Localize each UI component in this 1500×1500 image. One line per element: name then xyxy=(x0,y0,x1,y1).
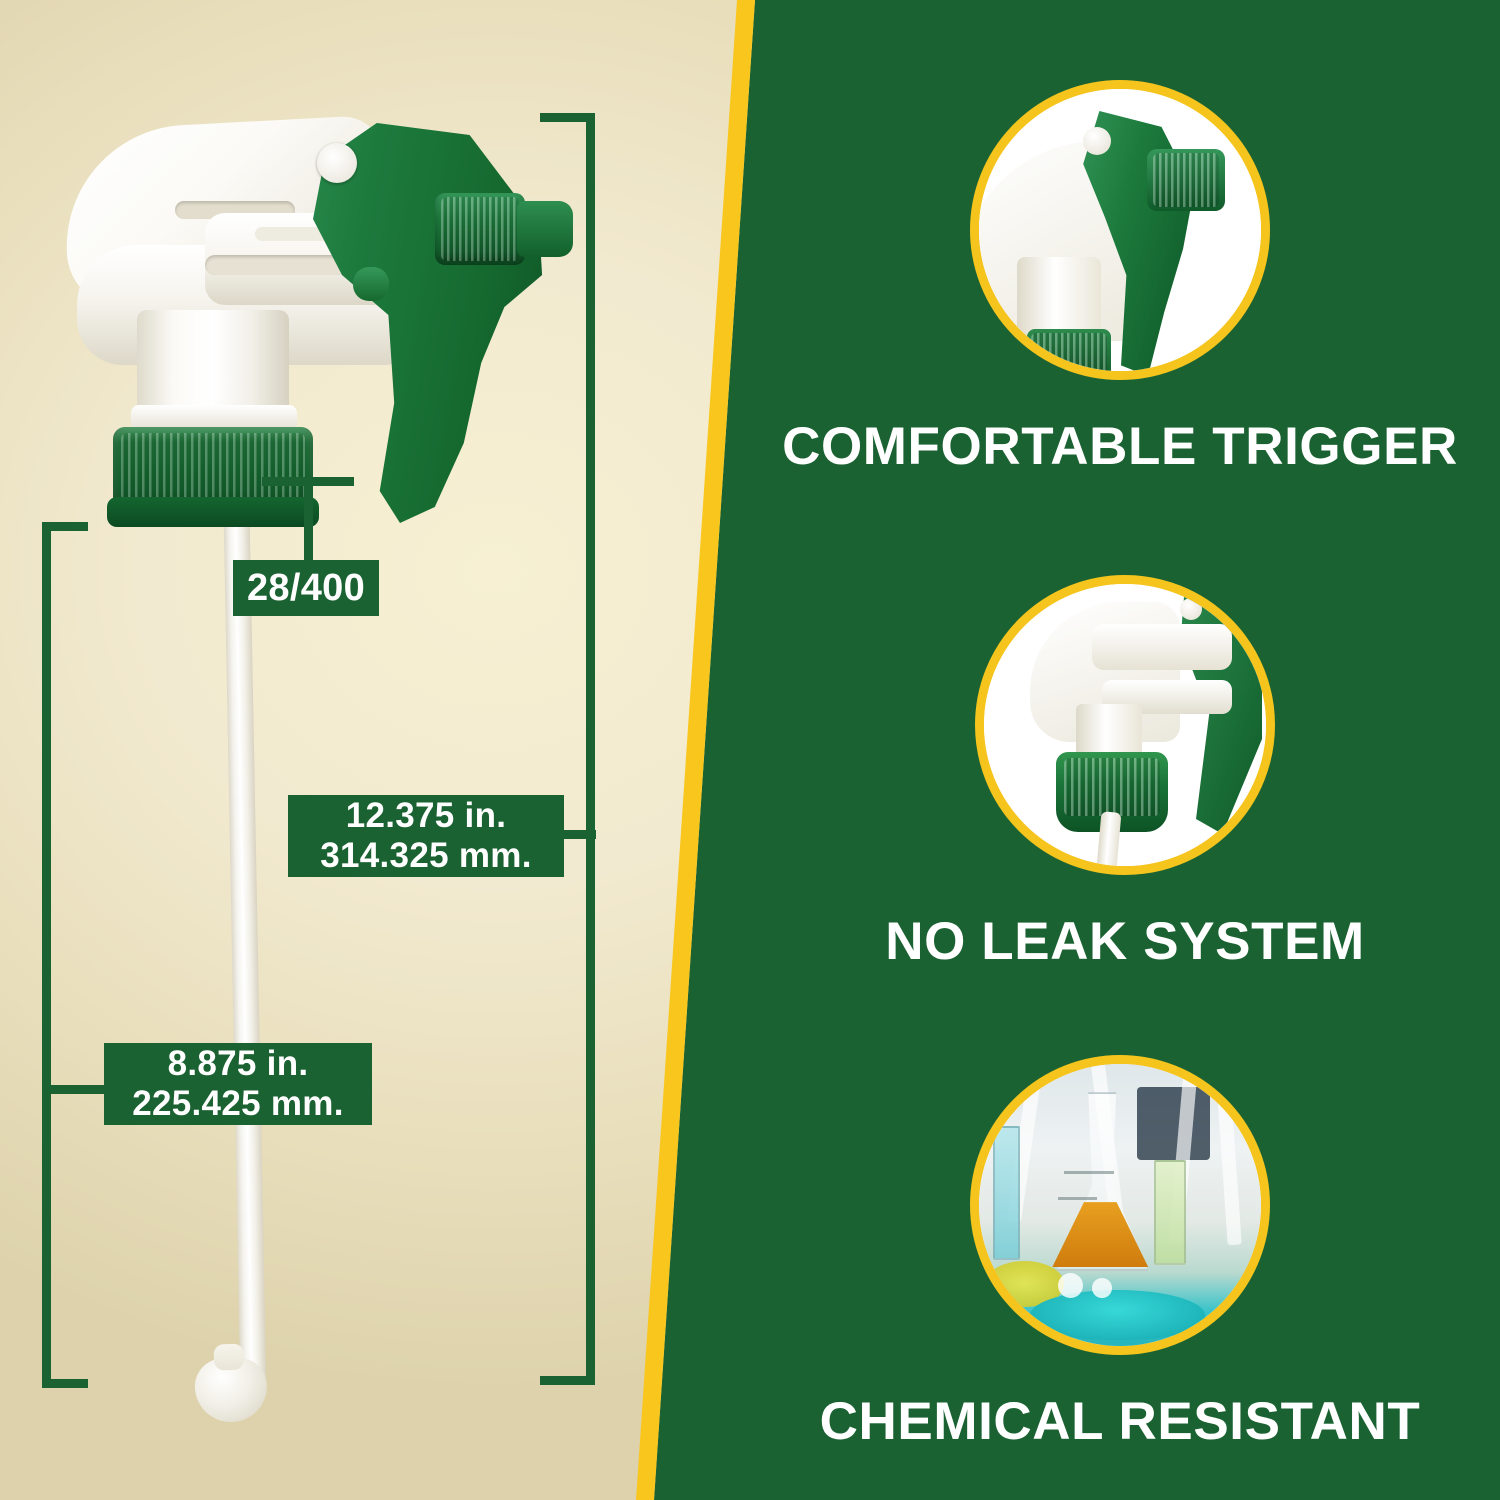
test-tube xyxy=(1154,1160,1186,1266)
feature-comfortable-trigger: COMFORTABLE TRIGGER xyxy=(740,80,1500,477)
feature-title-chemical-resistant: CHEMICAL RESISTANT xyxy=(820,1391,1421,1452)
closeup-cap-lip xyxy=(1023,371,1123,380)
dip-tube-bracket-top-tick xyxy=(42,522,88,531)
overall-bracket-top-tick xyxy=(540,113,595,122)
graduated-cylinder xyxy=(993,1126,1020,1260)
green-nozzle xyxy=(435,193,525,265)
overall-bracket-bottom-tick xyxy=(540,1376,595,1385)
closeup-green-nozzle xyxy=(1147,149,1225,211)
callout-overall-length: 12.375 in. 314.325 mm. xyxy=(288,795,564,877)
feature-image-cap-closeup xyxy=(975,575,1275,875)
trigger-pivot-hole xyxy=(317,143,357,183)
nozzle-tip xyxy=(517,201,573,257)
dip-tube-label-leader xyxy=(42,1085,108,1094)
callout-neck-finish-text: 28/400 xyxy=(247,567,365,610)
callout-overall-length-mm: 314.325 mm. xyxy=(320,836,532,876)
dip-tube-foot xyxy=(194,1357,268,1423)
feature-image-trigger-closeup xyxy=(970,80,1270,380)
closeup-trigger-pivot-hole xyxy=(1083,127,1111,155)
feature-no-leak-system: NO LEAK SYSTEM xyxy=(745,575,1500,972)
feature-title-comfortable-trigger: COMFORTABLE TRIGGER xyxy=(782,416,1458,477)
overall-bracket-vertical xyxy=(586,113,595,1385)
dip-tube-bracket-vertical xyxy=(42,522,51,1388)
trigger-nub xyxy=(353,267,389,301)
infographic-canvas: 28/400 12.375 in. 314.325 mm. 8.875 in. … xyxy=(0,0,1500,1500)
callout-dip-tube-length-mm: 225.425 mm. xyxy=(132,1084,344,1124)
callout-dip-tube-length: 8.875 in. 225.425 mm. xyxy=(104,1043,372,1125)
feature-image-lab-glassware xyxy=(970,1055,1270,1355)
neck-finish-leader-vertical xyxy=(304,477,313,562)
callout-dip-tube-length-inches: 8.875 in. xyxy=(132,1044,344,1084)
noleak-trigger-pivot-hole xyxy=(1180,598,1202,620)
dip-tube-bracket-bottom-tick xyxy=(42,1379,88,1388)
dip-tube xyxy=(223,485,266,1390)
feature-title-no-leak-system: NO LEAK SYSTEM xyxy=(885,911,1365,972)
closeup-green-cap xyxy=(1027,329,1111,380)
flask-orange-liquid xyxy=(1052,1202,1148,1267)
callout-overall-length-inches: 12.375 in. xyxy=(320,796,532,836)
feature-chemical-resistant: CHEMICAL RESISTANT xyxy=(740,1055,1500,1452)
trigger-sprayer-product-image xyxy=(55,105,555,1425)
green-closure-lip xyxy=(107,497,319,527)
noleak-white-arm-upper xyxy=(1092,624,1232,670)
lab-photo xyxy=(979,1064,1261,1346)
callout-neck-finish: 28/400 xyxy=(233,560,379,616)
cyan-liquid xyxy=(1030,1290,1205,1341)
